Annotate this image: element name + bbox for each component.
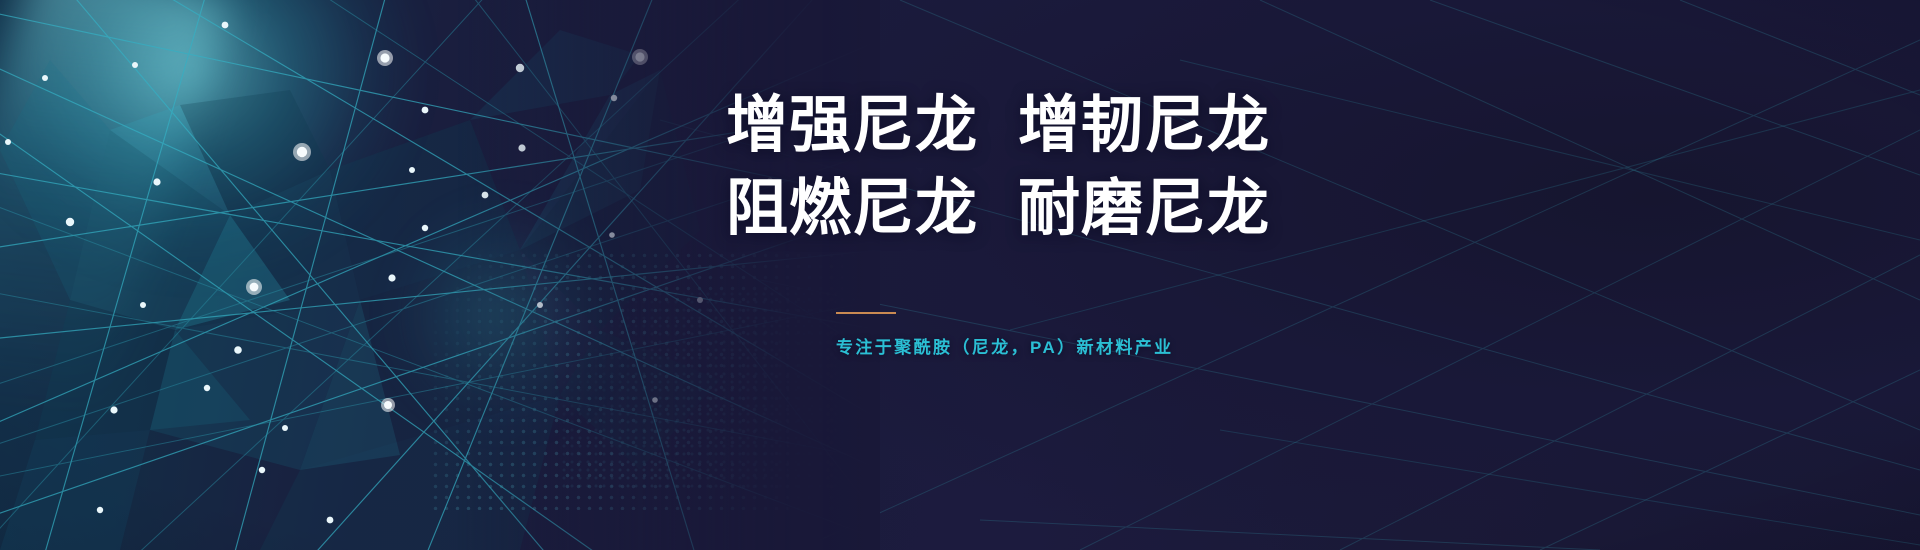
headline-phrase-toughened-nylon: 增韧尼龙 [1018, 91, 1270, 160]
tagline-text: 专注于聚酰胺（尼龙，PA）新材料产业 [836, 333, 1426, 358]
accent-divider-rule [836, 312, 896, 314]
headline-phrase-reinforced-nylon: 增强尼龙 [726, 91, 978, 160]
headline-phrase-wear-resistant-nylon: 耐磨尼龙 [1018, 174, 1270, 243]
headline-line-2: 阻燃尼龙耐磨尼龙 [726, 167, 1426, 250]
banner-content: 增强尼龙增韧尼龙 阻燃尼龙耐磨尼龙 专注于聚酰胺（尼龙，PA）新材料产业 [726, 84, 1426, 358]
tagline-block: 专注于聚酰胺（尼龙，PA）新材料产业 [836, 312, 1426, 358]
headline-line-1: 增强尼龙增韧尼龙 [726, 84, 1426, 167]
headline-phrase-flame-retardant-nylon: 阻燃尼龙 [726, 174, 978, 243]
hero-banner: 增强尼龙增韧尼龙 阻燃尼龙耐磨尼龙 专注于聚酰胺（尼龙，PA）新材料产业 [0, 0, 1920, 550]
